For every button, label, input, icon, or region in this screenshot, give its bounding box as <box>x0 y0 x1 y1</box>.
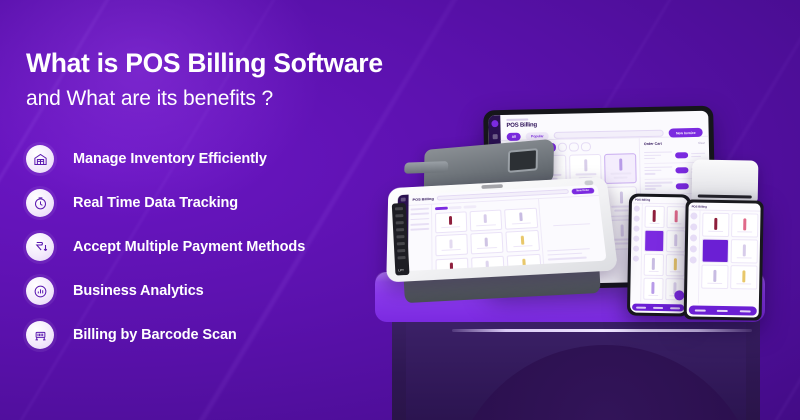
feature-label: Accept Multiple Payment Methods <box>73 239 305 255</box>
rupee-arrow-icon <box>26 233 54 261</box>
receipt-printer <box>692 159 759 202</box>
product-card[interactable] <box>505 230 539 253</box>
accept-action[interactable] <box>717 309 728 311</box>
category-avatar[interactable] <box>633 236 639 242</box>
product-action[interactable] <box>653 306 663 308</box>
tab-offers[interactable] <box>569 142 579 151</box>
receipt-slot <box>698 195 752 199</box>
product-card[interactable] <box>666 206 686 228</box>
phone-device: POS Billing <box>627 193 691 316</box>
app-title: POS Billing <box>635 198 650 202</box>
payment-terminal-body: POS Billing <box>684 199 764 320</box>
scanner-window <box>508 148 538 173</box>
pos-billing-banner: What is POS Billing Software and What ar… <box>0 0 800 420</box>
category-avatar[interactable] <box>634 206 640 212</box>
banner-content: What is POS Billing Software and What ar… <box>26 48 456 357</box>
hold-action[interactable] <box>636 306 646 308</box>
category-avatar[interactable] <box>634 216 640 222</box>
cart-heading: Order Cart <box>644 142 662 146</box>
terminal-bottom-actions[interactable] <box>689 305 757 315</box>
bar-chart-icon <box>26 277 54 305</box>
feature-item-inventory: Manage Inventory Efficiently <box>26 137 456 181</box>
product-card[interactable] <box>665 254 685 276</box>
product-card[interactable] <box>469 209 502 231</box>
phone-bottom-actions[interactable] <box>632 304 684 312</box>
product-card[interactable] <box>702 213 729 237</box>
cancel-action[interactable] <box>695 309 706 311</box>
product-card[interactable] <box>731 213 758 237</box>
add-to-cart-fab[interactable] <box>674 290 684 300</box>
feature-item-realtime: Real Time Data Tracking <box>26 181 456 225</box>
clock-icon <box>26 189 54 217</box>
quantity-stepper[interactable] <box>675 152 688 158</box>
category-avatar[interactable] <box>690 234 697 241</box>
product-card-selected[interactable] <box>644 230 664 252</box>
product-card[interactable] <box>730 265 757 289</box>
category-avatar[interactable] <box>690 256 697 263</box>
category-avatar[interactable] <box>633 226 639 232</box>
product-card[interactable] <box>470 232 504 255</box>
product-card[interactable] <box>507 253 542 271</box>
feature-item-payments: Accept Multiple Payment Methods <box>26 225 456 269</box>
feature-label: Billing by Barcode Scan <box>73 327 237 343</box>
tab-combos[interactable] <box>581 142 591 151</box>
feature-label: Business Analytics <box>73 283 204 299</box>
product-card[interactable] <box>644 254 664 276</box>
feature-label: Real Time Data Tracking <box>73 195 238 211</box>
feature-item-barcode: Billing by Barcode Scan <box>26 313 456 357</box>
empty-cart-message <box>543 200 601 250</box>
product-card-selected[interactable] <box>702 239 729 263</box>
category-avatar[interactable] <box>690 223 697 230</box>
payment-terminal-screen: POS Billing <box>687 202 761 317</box>
proceed-to-pay-button[interactable] <box>548 263 603 272</box>
app-title: POS Billing <box>506 119 702 129</box>
primary-filter-chip[interactable]: All <box>507 132 522 140</box>
cart-clear-action[interactable]: Clear <box>698 141 705 145</box>
tab-new[interactable] <box>463 205 476 209</box>
checkout-action[interactable] <box>670 307 680 309</box>
brand-logo <box>481 184 503 189</box>
terminal-product-grid <box>699 211 761 305</box>
feature-list: Manage Inventory Efficiently Real Time D… <box>26 137 456 357</box>
category-avatar[interactable] <box>690 245 697 252</box>
app-title: POS Billing <box>692 204 707 208</box>
product-card[interactable] <box>643 278 663 300</box>
payment-terminal-device: POS Billing <box>684 159 765 320</box>
phone-screen: POS Billing <box>630 197 688 314</box>
greeting-text <box>506 118 528 120</box>
dashboard-icon[interactable] <box>492 134 497 139</box>
tab-new[interactable] <box>558 143 568 152</box>
product-card[interactable] <box>644 206 664 228</box>
barcode-scanner-icon <box>26 321 54 349</box>
product-card[interactable] <box>666 230 686 252</box>
product-card[interactable] <box>471 255 505 271</box>
product-card[interactable] <box>504 207 538 229</box>
page-subtitle: and What are its benefits ? <box>26 87 456 111</box>
page-title: What is POS Billing Software <box>26 48 456 78</box>
product-card[interactable] <box>701 265 728 289</box>
category-avatar[interactable] <box>633 256 639 262</box>
order-totals <box>547 247 602 262</box>
product-card[interactable] <box>731 239 758 263</box>
avatar <box>491 120 498 127</box>
print-action[interactable] <box>740 310 751 312</box>
new-order-button[interactable]: New Order <box>571 187 594 194</box>
feature-label: Manage Inventory Efficiently <box>73 151 267 167</box>
feature-item-analytics: Business Analytics <box>26 269 456 313</box>
warehouse-icon <box>26 145 54 173</box>
pos-cart-panel <box>538 196 607 272</box>
phone-product-grid <box>641 204 688 303</box>
category-avatar[interactable] <box>633 246 639 252</box>
category-avatar[interactable] <box>690 212 697 219</box>
camera-icon <box>584 180 593 185</box>
